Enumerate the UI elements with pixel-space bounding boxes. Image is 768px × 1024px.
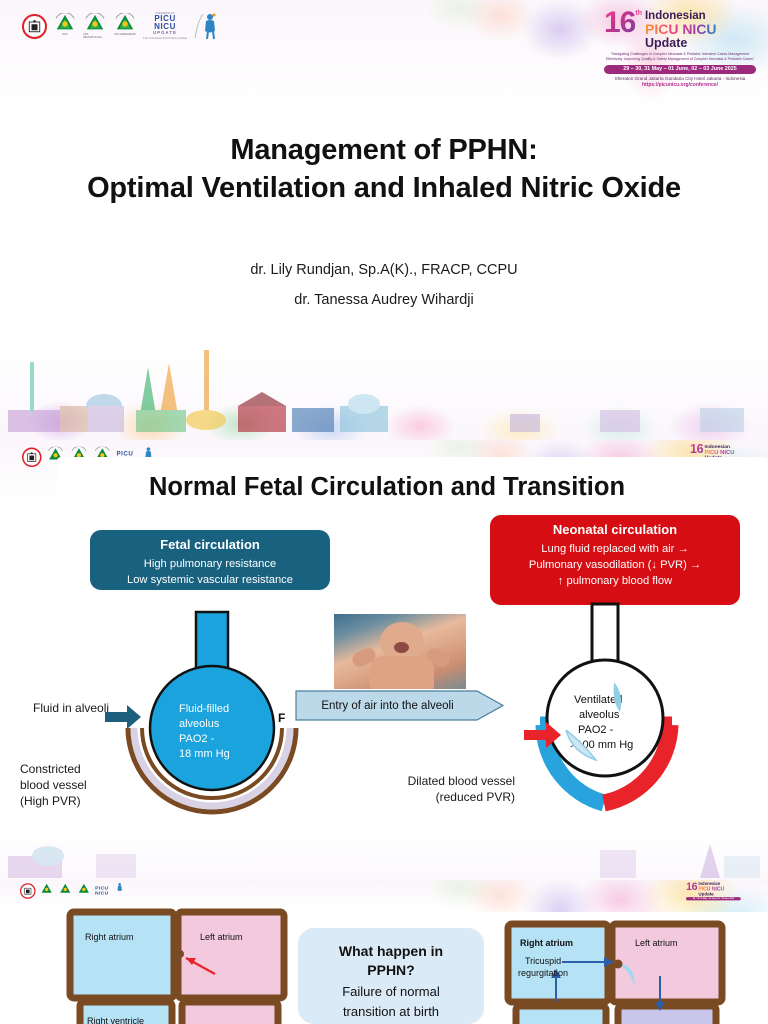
organization-logo-bar: IDAI UKK NEONATOLOGI UKK EMERGENSI INDON… [22,12,219,40]
picu-nicu-update-wordmark: INDONESIAN PICU NICU UPDATE The Indonesi… [143,13,187,40]
slide-pphn-question[interactable]: PICU NICU 16 Indonesian PICU NICU Update… [0,880,768,1024]
badge-number: 16 [690,444,703,455]
picu-nicu-figure-icon [193,12,219,40]
badge-update: Update [645,37,717,50]
pphn-question-line2: PPHN? [298,961,484,980]
badge-venue: Sheraton Grand Jakarta Gandaria City Hot… [604,76,756,81]
author-primary: dr. Lily Rundjan, Sp.A(K)., FRACP, CCPU [0,255,768,285]
partial-label-f: F [278,711,285,725]
fetal-box-line1: High pulmonary resistance [144,558,276,570]
idai-logo-icon-2 [58,882,73,899]
idai-logo-icon-2: UKK NEONATOLOGI [83,13,107,40]
presentation-title: Management of PPHN: Optimal Ventilation … [0,132,768,207]
picu-word-n: NICU [95,891,109,896]
right-heart-left-atrium-label: Left atrium [635,938,678,948]
presentation-title-line1: Management of PPHN: [0,132,768,170]
picu-word-caption: The Indonesian PICU NICU Update [143,37,187,40]
idi-logo-icon [20,883,36,899]
neonatal-box-line1: Lung fluid replaced with air → [541,543,688,555]
badge-number: 16 [604,10,635,36]
tricuspid-label-line1: Tricuspid [525,956,561,966]
entry-of-air-label: Entry of air into the alveoli [295,687,480,724]
heart-diagram-pphn: Right atrium Left atrium Tricuspid regur… [500,918,730,1024]
dilated-vessel-label: Dilated blood vessel (reduced PVR) [383,773,515,805]
newborn-baby-photo [333,613,467,690]
heart-diagram-normal: Right atrium Left atrium Right ventricle [60,906,290,1024]
left-alveolus-line3: PAO2 - [179,733,215,745]
idai-caption-1: IDAI [62,33,67,36]
badge-dates: 29 – 30, 31 May – 01 June, 02 – 03 June … [604,65,756,74]
presentation-title-line2: Optimal Ventilation and Inhaled Nitric O… [0,170,768,208]
idai-caption-2: UKK NEONATOLOGI [83,33,107,39]
idai-logo-icon-1: IDAI [53,13,77,40]
pphn-answer-line2: transition at birth [298,1003,484,1021]
entry-of-air-arrow-banner: Entry of air into the alveoli [295,687,505,724]
pphn-question-line1: What happen in [298,942,484,961]
badge-update: Update [698,892,724,897]
badge-url[interactable]: https://picunicu.org/conference/ [604,82,756,88]
neonatal-box-line2: Pulmonary vasodilation (↓ PVR) → [529,559,701,571]
left-heart-right-atrium-label: Right atrium [85,932,134,942]
fetal-box-heading: Fetal circulation [90,536,330,555]
badge-ordinal: th [635,10,642,17]
fetal-box-line2: Low systemic vascular resistance [127,574,293,586]
left-heart-left-atrium-label: Left atrium [200,932,243,942]
idai-logo-icon-3 [76,882,91,899]
badge-number: 16 [686,882,697,891]
baby-mouth [394,642,409,653]
slide-title-page[interactable]: IDAI UKK NEONATOLOGI UKK EMERGENSI INDON… [0,0,768,440]
idai-logo-icon-3: UKK EMERGENSI [113,13,137,40]
slide-normal-fetal-circulation[interactable]: PICU NICU 16 Indonesian PICU NICU Update… [0,440,768,880]
watercolor-skyline-footer [0,310,768,440]
idai-logo-icon-1 [39,882,54,899]
pphn-answer-line1: Failure of normal [298,983,484,1001]
idi-logo-icon [22,14,47,39]
pdf-viewer-document[interactable]: IDAI UKK NEONATOLOGI UKK EMERGENSI INDON… [0,0,768,1024]
left-alveolus-line2: alveolus [179,718,220,730]
badge-tagline: "Navigating Challenges in Complex Neonat… [604,52,756,63]
picu-nicu-update-wordmark-3: PICU NICU [95,886,109,896]
constricted-vessel-label: Constricted blood vessel (High PVR) [20,761,87,810]
left-alveolus-line4: 18 mm Hg [179,748,230,760]
badge-dates: 29 – 30, 31 May – 01 June, 02 – 03 June … [686,897,741,900]
badge-picu-nicu: PICU NICU [645,22,717,37]
baby-body [370,656,434,690]
presentation-authors: dr. Lily Rundjan, Sp.A(K)., FRACP, CCPU … [0,255,768,316]
neonatal-box-heading: Neonatal circulation [490,521,740,540]
picu-word-sub: UPDATE [153,31,177,35]
fluid-in-alveoli-label: Fluid in alveoli [33,700,109,716]
conference-badge: 16 th Indonesian PICU NICU Update "Navig… [604,10,756,88]
idi-logo-icon [22,447,42,467]
right-alveolus-line2: alveolus [579,709,620,721]
watercolor-skyline-footer-2 [0,810,768,880]
right-alveolus-line3: PAO2 - [578,724,614,736]
slide2-title: Normal Fetal Circulation and Transition [57,473,717,502]
idai-caption-3: UKK EMERGENSI [114,33,136,36]
conference-badge-3: 16 Indonesian PICU NICU Update 29 – 30, … [686,882,741,900]
right-heart-right-atrium-label: Right atrium [520,938,573,948]
left-heart-right-ventricle-label: Right ventricle [87,1016,144,1024]
neonatal-box-line3: ↑ pulmonary blood flow [558,575,672,587]
tricuspid-label-line2: regurgitation [518,968,568,978]
picu-nicu-figure-icon-3 [112,882,128,899]
fetal-circulation-box: Fetal circulation High pulmonary resista… [90,530,330,590]
organization-logo-bar-3: PICU NICU [20,882,128,899]
pphn-question-box: What happen in PPHN? Failure of normal t… [298,928,484,1024]
left-alveolus-line1: Fluid-filled [179,703,229,715]
